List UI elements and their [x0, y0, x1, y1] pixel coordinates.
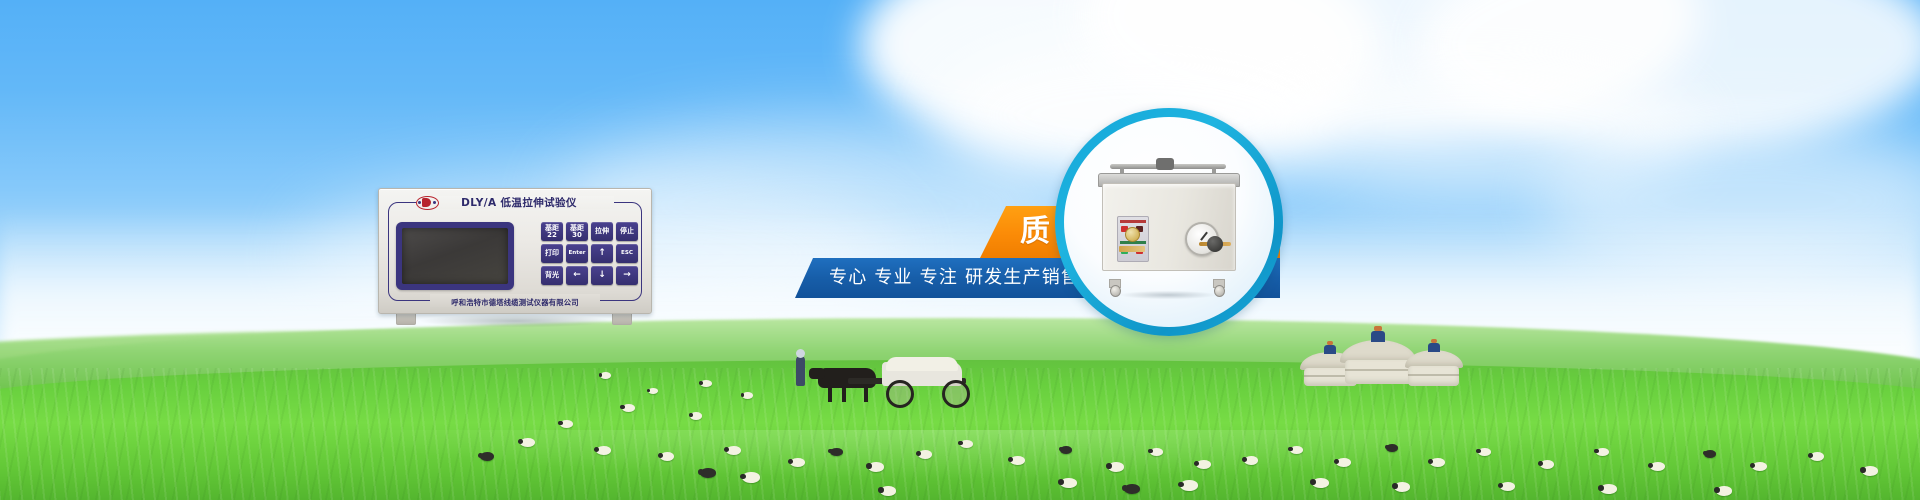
device-screen [402, 228, 508, 284]
machine-caster-wheel [1212, 279, 1224, 295]
device-panel: DLY/A 低温拉伸试验仪 基距 22 基距 30 拉伸 [388, 196, 642, 305]
logo-dot-left [418, 201, 421, 204]
device-screen-bezel [396, 222, 514, 290]
key-gap-22[interactable]: 基距 22 [541, 222, 563, 241]
brass-nameplate [1119, 246, 1145, 252]
key-stretch[interactable]: 拉伸 [591, 222, 613, 241]
device-chassis: DLY/A 低温拉伸试验仪 基距 22 基距 30 拉伸 [378, 188, 652, 314]
caster-tyre [1110, 285, 1121, 297]
key-arrow-down[interactable]: ↓ [591, 266, 613, 285]
slogan-group: 专心 专业 专注 研发生产销售线缆测试仪器 质量 责任 服务 [0, 0, 1920, 500]
key-esc[interactable]: ESC [616, 244, 638, 263]
key-arrow-right[interactable]: → [616, 266, 638, 285]
hero-banner: DLY/A 低温拉伸试验仪 基距 22 基距 30 拉伸 [0, 0, 1920, 500]
key-arrow-left[interactable]: ← [566, 266, 588, 285]
instrument-dly-a: DLY/A 低温拉伸试验仪 基距 22 基距 30 拉伸 [378, 188, 650, 324]
key-backlight[interactable]: 背光 [541, 266, 563, 285]
key-arrow-up[interactable]: ↑ [591, 244, 613, 263]
brass-dial [1125, 227, 1140, 242]
product-circle[interactable] [1055, 108, 1283, 336]
machine-caster-wheel [1108, 279, 1120, 295]
device-shadow [382, 312, 650, 330]
logo-letter-d [422, 198, 431, 207]
product-inner-disc [1064, 117, 1274, 327]
device-company-name: 呼和浩特市德塔线缆测试仪器有限公司 [388, 298, 642, 308]
key-gap-30[interactable]: 基距 30 [566, 222, 588, 241]
machine-handle-knob [1156, 158, 1174, 170]
valve-knob [1207, 236, 1223, 252]
control-strip [1120, 220, 1146, 223]
key-enter[interactable]: Enter [566, 244, 588, 263]
product-machine-image [1094, 159, 1242, 291]
device-model-title: DLY/A 低温拉伸试验仪 [434, 195, 604, 210]
key-stop[interactable]: 停止 [616, 222, 638, 241]
caster-tyre [1214, 285, 1225, 297]
key-print[interactable]: 打印 [541, 244, 563, 263]
machine-body [1102, 183, 1236, 271]
device-keypad[interactable]: 基距 22 基距 30 拉伸 停止 打印 [538, 222, 638, 290]
